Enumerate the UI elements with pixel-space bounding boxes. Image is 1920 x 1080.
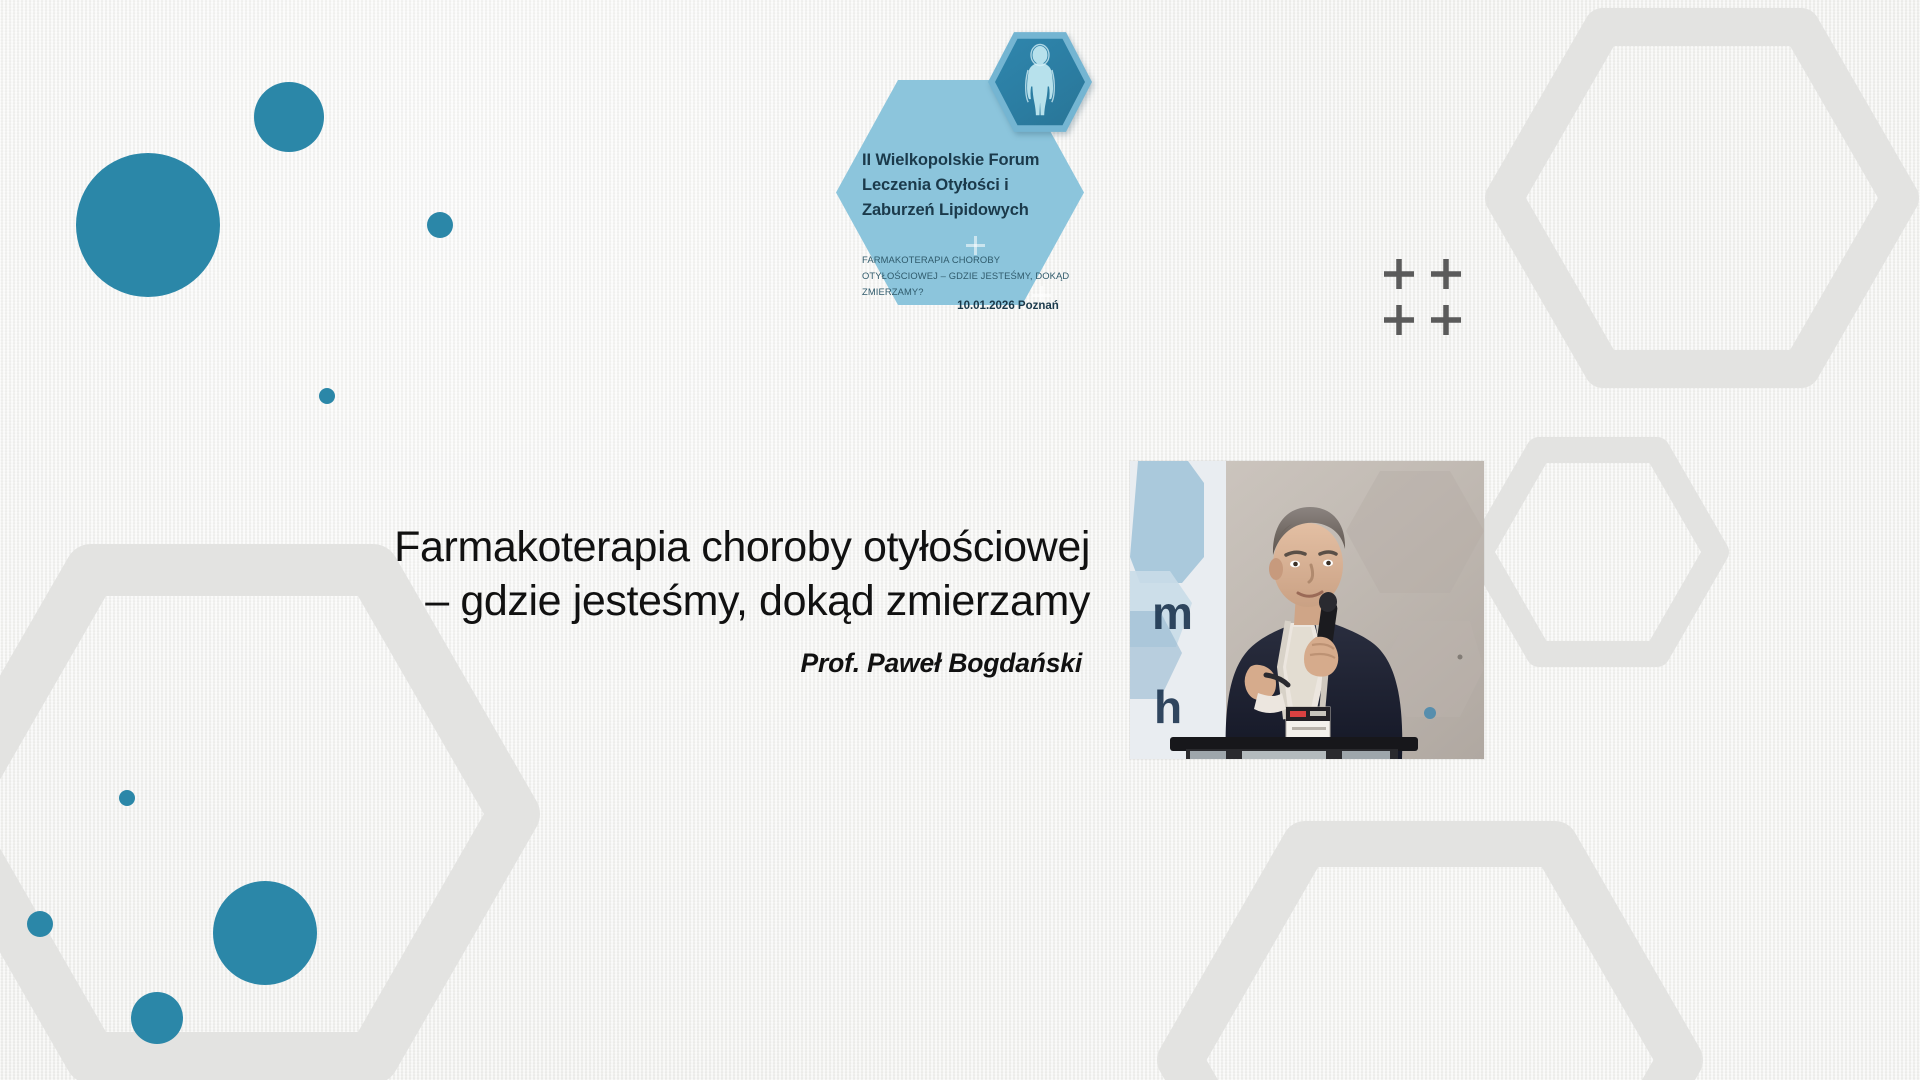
hexagon-top-right-outline bbox=[1504, 27, 1900, 369]
slide-presenter-name: Prof. Paweł Bogdański bbox=[300, 648, 1082, 679]
title-block: Farmakoterapia choroby otyłościowej – gd… bbox=[300, 520, 1090, 679]
plus-icon bbox=[1384, 305, 1414, 335]
plus-icon bbox=[1431, 259, 1461, 289]
accent-circle bbox=[131, 992, 183, 1044]
speaker-photo-image: m h bbox=[1130, 461, 1484, 759]
svg-text:h: h bbox=[1154, 681, 1182, 733]
logo-text-block: II Wielkopolskie Forum Leczenia Otyłości… bbox=[836, 80, 1084, 305]
accent-circle bbox=[27, 911, 53, 937]
speaker-photo: m h bbox=[1130, 461, 1484, 759]
svg-text:m: m bbox=[1152, 587, 1193, 639]
conference-logo: II Wielkopolskie Forum Leczenia Otyłości… bbox=[836, 30, 1084, 305]
accent-circle bbox=[76, 153, 220, 297]
hexagon-mid-right-outline bbox=[1480, 450, 1716, 654]
logo-subtitle: FARMAKOTERAPIA CHOROBY OTYŁOŚCIOWEJ – GD… bbox=[862, 252, 1074, 301]
accent-circle bbox=[119, 790, 135, 806]
plus-icon bbox=[1384, 259, 1414, 289]
plus-icon bbox=[1431, 305, 1461, 335]
accent-circle bbox=[254, 82, 324, 152]
accent-circle bbox=[213, 881, 317, 985]
slide-title: Farmakoterapia choroby otyłościowej – gd… bbox=[300, 520, 1090, 628]
logo-title: II Wielkopolskie Forum Leczenia Otyłości… bbox=[862, 148, 1072, 223]
plus-mark-group bbox=[1384, 259, 1461, 335]
hexagon-bottom-right-outline bbox=[1180, 844, 1680, 1080]
accent-circle bbox=[319, 388, 335, 404]
logo-date-location: 10.01.2026 Poznań bbox=[948, 298, 1068, 314]
accent-circle bbox=[427, 212, 453, 238]
